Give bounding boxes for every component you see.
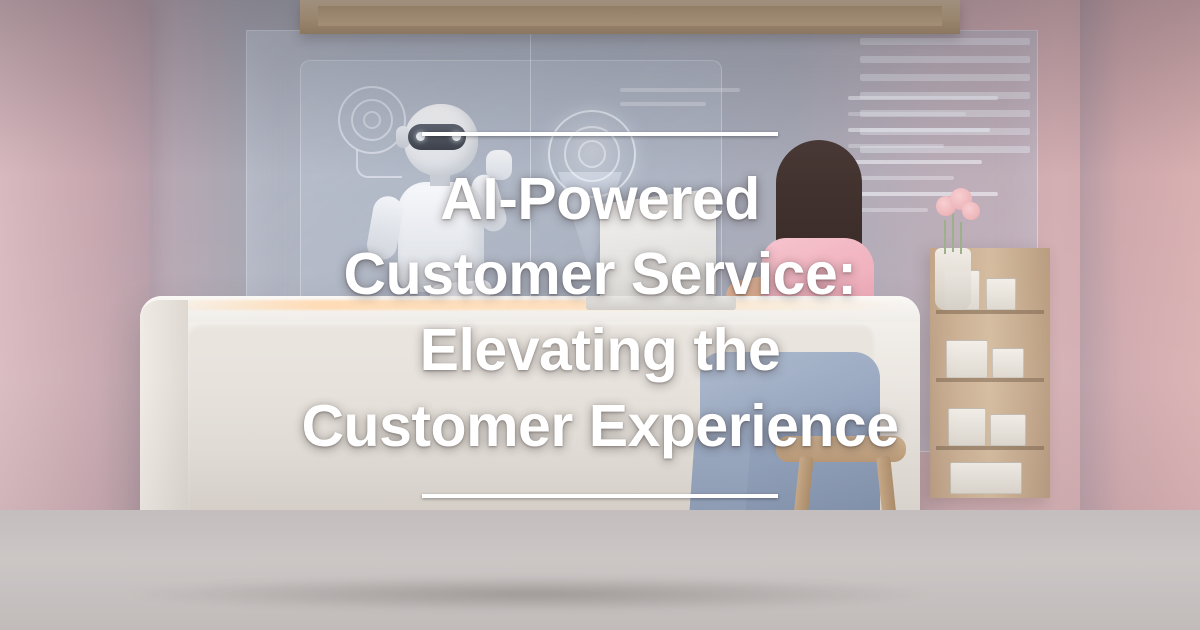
divider-top: [422, 132, 778, 136]
title-line-4: Customer Experience: [301, 389, 898, 465]
title-line-2: Customer Service:: [301, 237, 898, 313]
divider-bottom: [422, 494, 778, 498]
title-line-1: AI-Powered: [301, 162, 898, 238]
title-overlay: AI-Powered Customer Service: Elevating t…: [0, 0, 1200, 630]
page-title: AI-Powered Customer Service: Elevating t…: [301, 162, 898, 464]
hero-banner: AI-Powered Customer Service: Elevating t…: [0, 0, 1200, 630]
title-line-3: Elevating the: [301, 313, 898, 389]
